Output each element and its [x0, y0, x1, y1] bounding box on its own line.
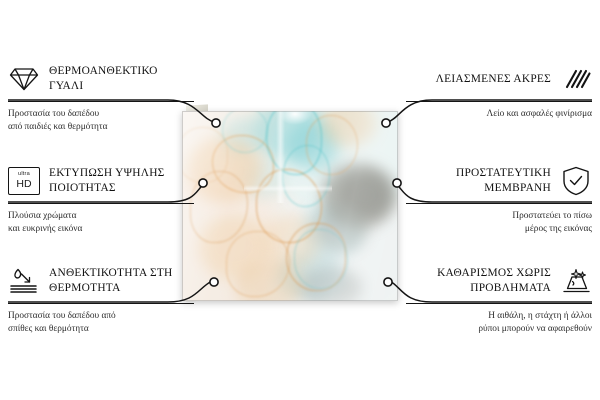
- feature-high-quality-print: ultra HD ΕΚΤΥΠΩΣΗ ΥΨΗΛΗΣ ΠΟΙΟΤΗΤΑΣ Πλούσ…: [8, 164, 194, 236]
- feature-divider: [406, 101, 592, 102]
- feature-description: Η αιθάλη, η στάχτη ή άλλοι ρύποι μπορούν…: [406, 310, 592, 336]
- feature-protective-membrane: ΠΡΟΣΤΑΤΕΥΤΙΚΗ ΜΕΜΒΡΑΝΗ Προστατεύει το πί…: [406, 164, 592, 236]
- feature-divider: [8, 303, 194, 304]
- feature-easy-cleaning: ΚΑΘΑΡΙΣΜΟΣ ΧΩΡΙΣ ΠΡΟΒΛΗΜΑΤΑ Η αιθάλη, η …: [406, 264, 592, 336]
- feature-title: ΕΚΤΥΠΩΣΗ ΥΨΗΛΗΣ ΠΟΙΟΤΗΤΑΣ: [49, 166, 194, 196]
- heat-resistance-icon: [8, 265, 40, 297]
- feature-title: ΘΕΡΜΟΑΝΘΕΚΤΙΚΟ ΓΥΑΛΙ: [49, 64, 194, 94]
- ultra-hd-large-text: HD: [16, 179, 31, 190]
- feature-divider: [406, 203, 592, 204]
- feature-description: Προστατεύει το πίσω μέρος της εικόνας: [406, 210, 592, 236]
- shield-check-icon: [560, 165, 592, 197]
- glass-edge: [182, 111, 398, 301]
- feature-title: ΑΝΘΕΚΤΙΚΟΤΗΤΑ ΣΤΗ ΘΕΡΜΟΤΗΤΑ: [49, 266, 194, 296]
- feature-divider: [8, 101, 194, 102]
- feature-divider: [406, 303, 592, 304]
- glass-artwork: [182, 111, 398, 301]
- feature-title: ΠΡΟΣΤΑΤΕΥΤΙΚΗ ΜΕΜΒΡΑΝΗ: [406, 166, 551, 196]
- feature-heat-durability: ΑΝΘΕΚΤΙΚΟΤΗΤΑ ΣΤΗ ΘΕΡΜΟΤΗΤΑ Προστασία το…: [8, 264, 194, 336]
- feature-polished-edges: ΛΕΙΑΣΜΕΝΕΣ ΑΚΡΕΣ Λείο και ασφαλές φινίρι…: [406, 62, 592, 121]
- feature-title: ΛΕΙΑΣΜΕΝΕΣ ΑΚΡΕΣ: [436, 72, 551, 87]
- ultra-hd-icon: ultra HD: [8, 165, 40, 197]
- infographic-canvas: ΘΕΡΜΟΑΝΘΕΚΤΙΚΟ ΓΥΑΛΙ Προστασία του δαπέδ…: [0, 0, 600, 400]
- feature-divider: [8, 203, 194, 204]
- feature-description: Πλούσια χρώματα και ευκρινής εικόνα: [8, 210, 194, 236]
- polished-edges-icon: [560, 63, 592, 95]
- feature-title: ΚΑΘΑΡΙΣΜΟΣ ΧΩΡΙΣ ΠΡΟΒΛΗΜΑΤΑ: [406, 266, 551, 296]
- feature-description: Προστασία του δαπέδου από παιδιές και θε…: [8, 108, 194, 134]
- feature-description: Λείο και ασφαλές φινίρισμα: [406, 108, 592, 121]
- product-image: [182, 111, 398, 301]
- feature-description: Προστασία του δαπέδου από σπίθες και θερ…: [8, 310, 194, 336]
- feature-heat-resistant-glass: ΘΕΡΜΟΑΝΘΕΚΤΙΚΟ ΓΥΑΛΙ Προστασία του δαπέδ…: [8, 62, 194, 134]
- diamond-icon: [8, 63, 40, 95]
- sparkle-clean-icon: [560, 265, 592, 297]
